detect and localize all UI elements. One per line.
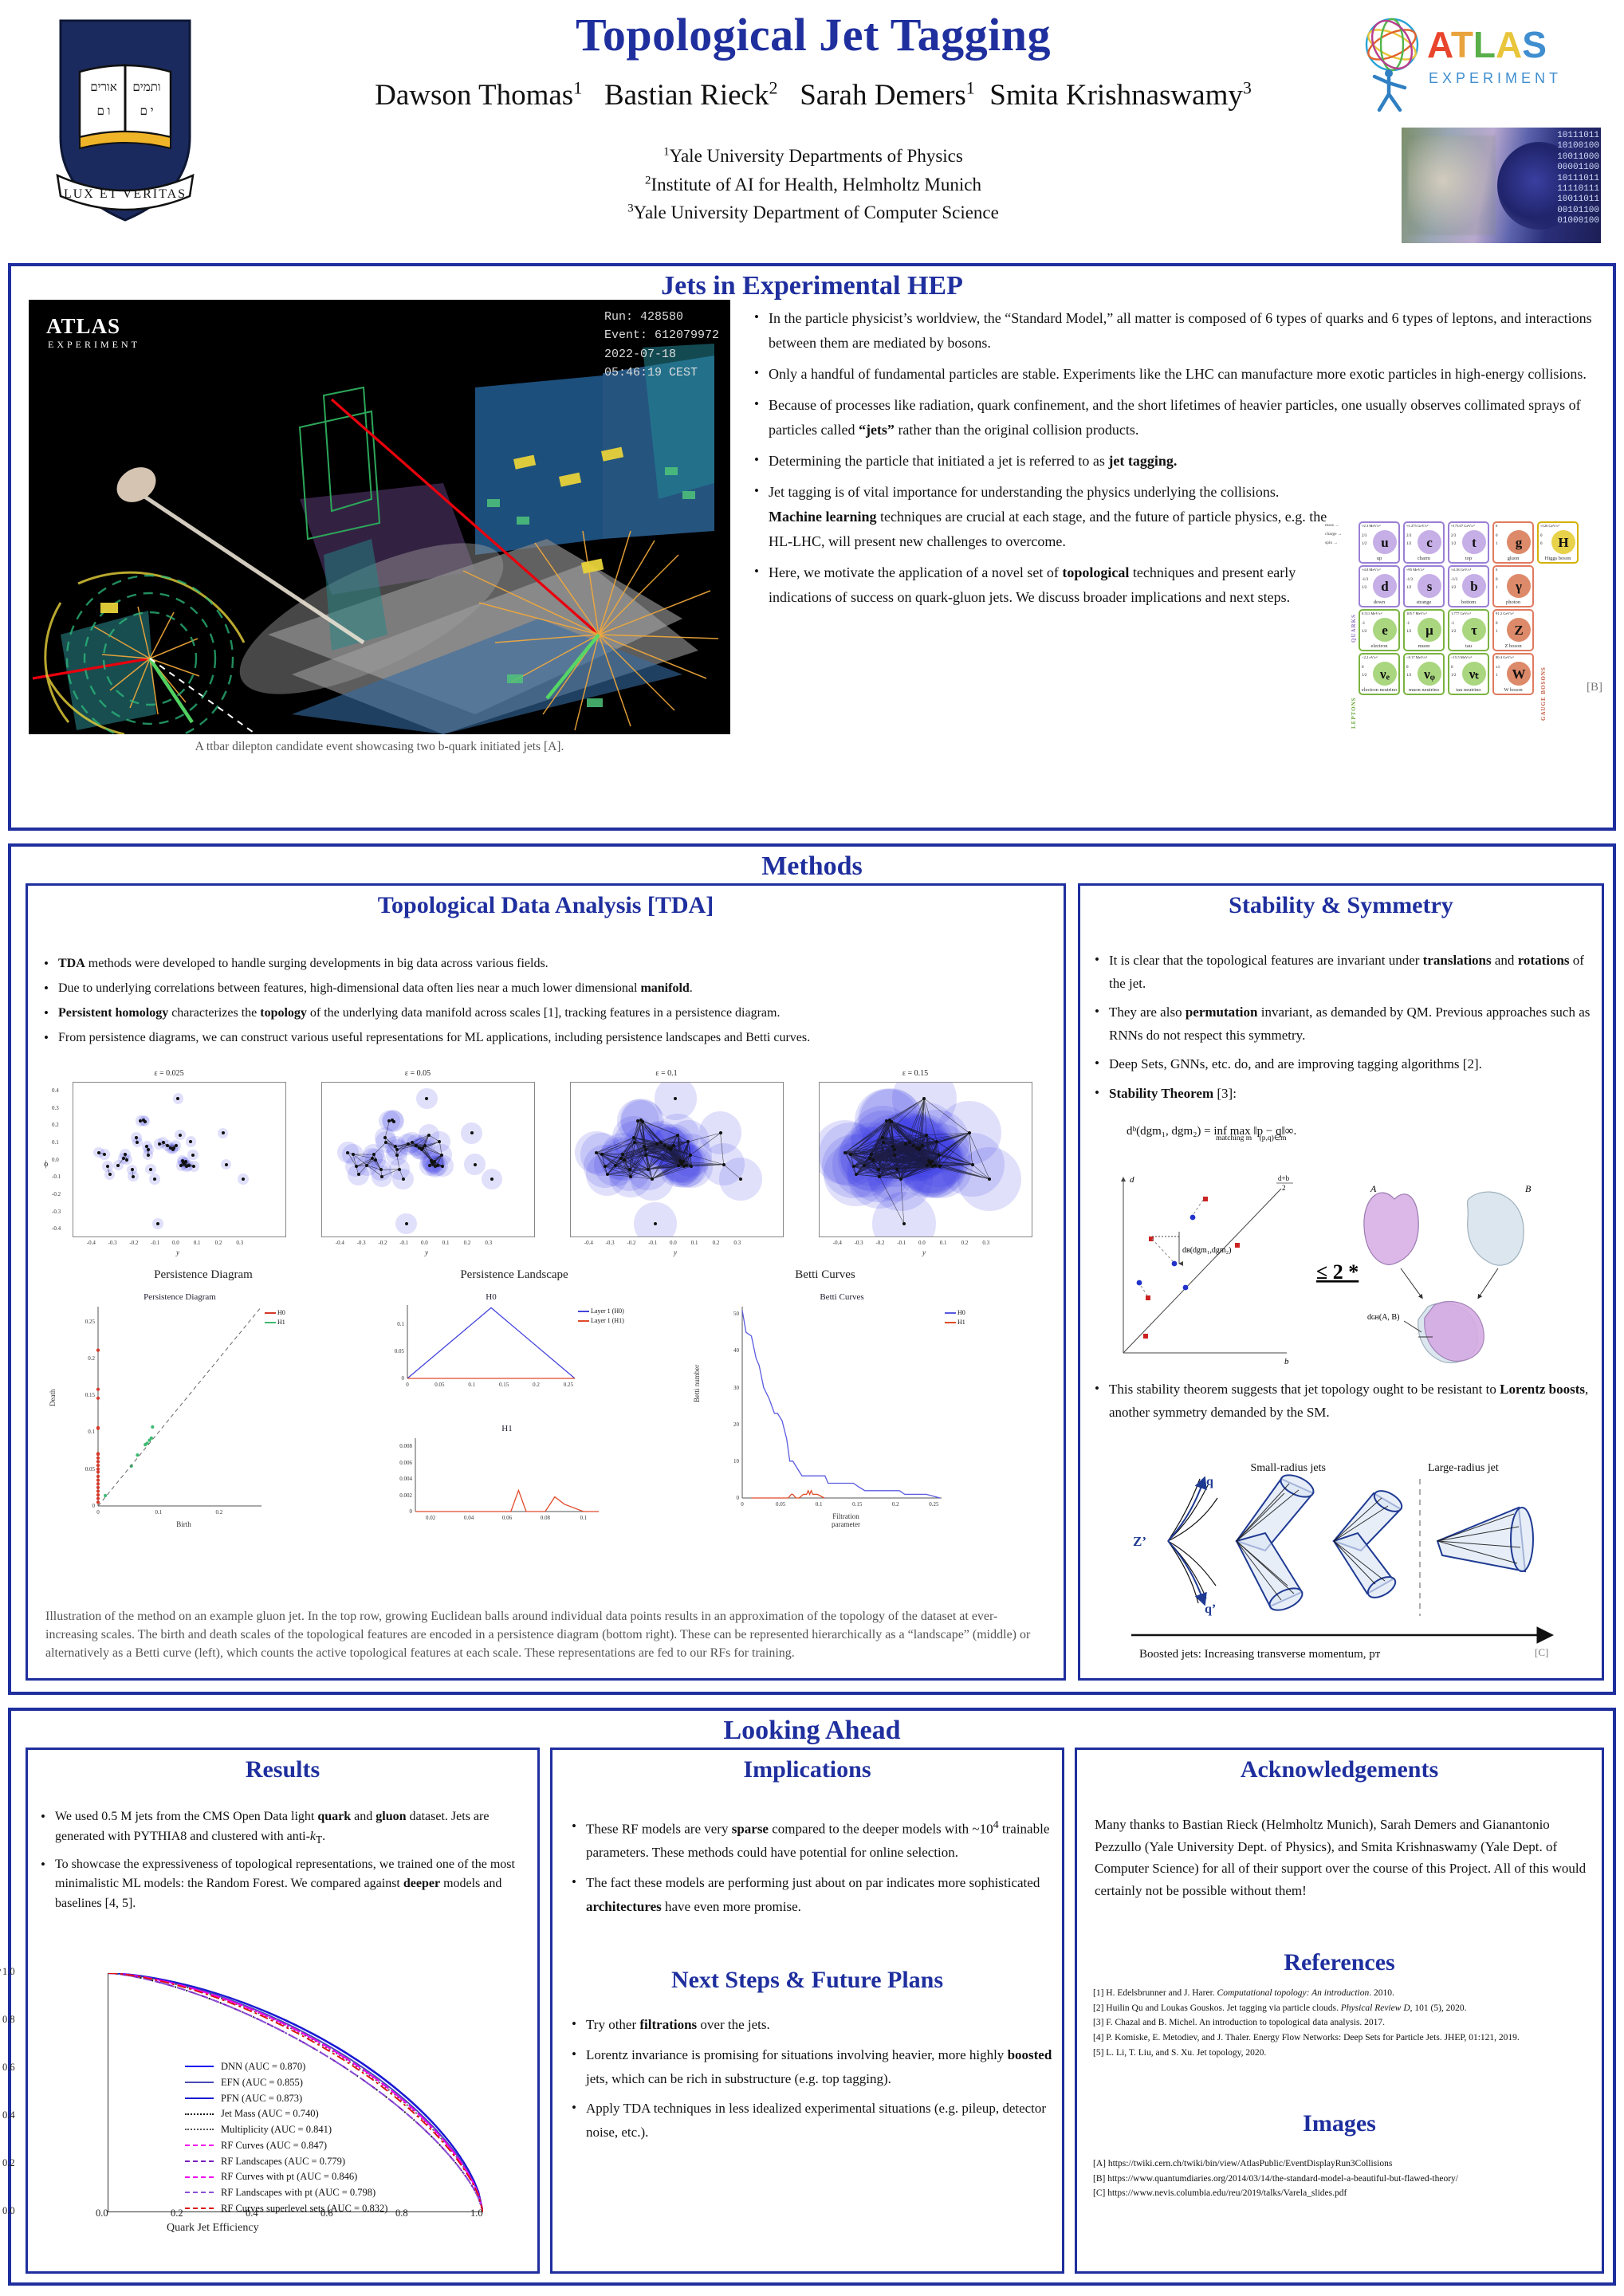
legend-item: H1 bbox=[945, 1318, 965, 1327]
y-tick: -0.4 bbox=[52, 1225, 61, 1232]
image-ref-b: [B] bbox=[1587, 681, 1602, 694]
y-tick: 30 bbox=[718, 1385, 739, 1391]
x-tick: -0.2 bbox=[875, 1240, 884, 1246]
y-tick: -0.2 bbox=[52, 1191, 61, 1197]
panel-title-implications: Implications bbox=[552, 1750, 1062, 1783]
list-item: Because of processes like radiation, qua… bbox=[753, 393, 1602, 442]
roc-x-axis-label: Quark Jet Efficiency bbox=[167, 2222, 259, 2235]
standard-model-particle-table: ≈2.3 MeV/c²2/31/2uup≈1.275 GeV/c²2/31/2c… bbox=[1359, 521, 1598, 705]
particle-cell-W-boson: 80.4 GeV/c²±11WW boson bbox=[1492, 653, 1534, 695]
roc-legend: DNN (AUC = 0.870) EFN (AUC = 0.855) PFN … bbox=[185, 2059, 387, 2217]
bottleneck-distance-formula: dᵇ(dgm₁, dgm₂) = inf max ‖p − q‖∞. match… bbox=[1127, 1125, 1296, 1142]
filtration-panel-1: ε = 0.05-0.4-0.3-0.2-0.10.00.10.20.3y bbox=[301, 1069, 535, 1258]
legend-swatch bbox=[185, 2160, 214, 2162]
chart-legend: Layer 1 (H0) Layer 1 (H1) bbox=[578, 1307, 624, 1326]
x-tick: 0.04 bbox=[461, 1515, 477, 1521]
x-tick: 0.1 bbox=[940, 1240, 947, 1246]
tda-figure-caption: Illustration of the method on an example… bbox=[45, 1607, 1050, 1663]
list-item: To showcase the expressiveness of topolo… bbox=[39, 1855, 533, 1914]
affiliation-3: 3Yale University Department of Computer … bbox=[263, 199, 1363, 227]
y-tick: 0.25 bbox=[74, 1319, 95, 1325]
group-label-quarks: QUARKS bbox=[1351, 563, 1357, 643]
filtration-panel-2: ε = 0.1-0.4-0.3-0.2-0.10.00.10.20.3y bbox=[549, 1069, 784, 1258]
chart-title: H0 bbox=[407, 1292, 575, 1302]
y-tick: 0.1 bbox=[52, 1139, 59, 1146]
x-tick: -0.3 bbox=[855, 1240, 863, 1246]
diagonal-denominator: 2 bbox=[1282, 1184, 1286, 1192]
x-axis-label: y bbox=[674, 1248, 677, 1256]
svg-text:אורים: אורים bbox=[90, 81, 117, 94]
x-tick: 0.1 bbox=[194, 1240, 201, 1246]
particle-cell-Higgs-boson: ≈126 GeV/c²00HHiggs boson bbox=[1537, 521, 1579, 564]
list-item: Stability Theorem [3]: bbox=[1093, 1083, 1591, 1106]
filtration-panel-title: ε = 0.05 bbox=[301, 1069, 535, 1078]
legend-item: RF Landscapes (AUC = 0.779) bbox=[185, 2154, 387, 2169]
list-item: Jet tagging is of vital importance for u… bbox=[753, 480, 1335, 554]
panel-acknowledgements-references: Acknowledgements Many thanks to Bastian … bbox=[1075, 1748, 1604, 2274]
list-item: [1] H. Edelsbrunner and J. Harer. Comput… bbox=[1093, 1986, 1595, 2001]
list-item: Only a handful of fundamental particles … bbox=[753, 362, 1602, 387]
roc-x-tick: 1.0 bbox=[470, 2208, 483, 2219]
x-tick: 0.0 bbox=[918, 1240, 926, 1246]
y-tick: 0 bbox=[383, 1375, 404, 1382]
x-tick: 0.2 bbox=[713, 1240, 720, 1246]
particle-cell-charm: ≈1.275 GeV/c²2/31/2ccharm bbox=[1403, 521, 1445, 564]
x-tick: -0.1 bbox=[399, 1240, 408, 1246]
x-tick: 0 bbox=[734, 1501, 750, 1508]
x-tick: 0.15 bbox=[496, 1382, 512, 1388]
panel-topological-data-analysis: Topological Data Analysis [TDA] TDA meth… bbox=[26, 883, 1066, 1681]
roc-x-tick: 0.8 bbox=[395, 2208, 408, 2219]
filtration-plot-area bbox=[321, 1082, 535, 1237]
y-axis-label: ϕ bbox=[44, 1160, 48, 1169]
panel-title-results: Results bbox=[28, 1750, 537, 1783]
row-meta-0: mass → bbox=[1325, 523, 1339, 528]
roc-curve-chart: Gluon Jet Rejection DNN (AUC = 0.870) EF… bbox=[39, 1965, 533, 2268]
x-tick: 0.06 bbox=[499, 1515, 515, 1521]
list-item: Try other filtrations over the jets. bbox=[570, 2013, 1052, 2037]
y-tick: 0.006 bbox=[391, 1460, 412, 1466]
author-3: Sarah Demers1 bbox=[800, 79, 975, 112]
z-prime-label: Z’ bbox=[1133, 1534, 1146, 1549]
legend-item: PFN (AUC = 0.873) bbox=[185, 2091, 387, 2106]
x-axis-label: y bbox=[922, 1248, 926, 1256]
filtration-panel-title: ε = 0.025 bbox=[52, 1069, 286, 1078]
binary-digits: 1011101110100100100110000000110010111011… bbox=[1557, 131, 1599, 227]
list-item: TDA methods were developed to handle sur… bbox=[42, 954, 1055, 973]
formula-sub-pairs: (p,q)∈m bbox=[1260, 1134, 1287, 1142]
event-date: 2022-07-18 bbox=[604, 345, 719, 364]
x-tick: 0.25 bbox=[560, 1382, 576, 1388]
axis-label-b: b bbox=[1284, 1357, 1289, 1366]
quark-label-q: q bbox=[1206, 1475, 1213, 1488]
list-item: [3] F. Chazal and B. Michel. An introduc… bbox=[1093, 2015, 1595, 2031]
roc-x-tick: 0.2 bbox=[171, 2208, 183, 2219]
legend-swatch bbox=[185, 2066, 214, 2067]
list-item: [C] https://www.nevis.columbia.edu/reu/2… bbox=[1093, 2186, 1595, 2201]
stability-bullet-list: It is clear that the topological feature… bbox=[1093, 949, 1591, 1111]
image-ref-c: [C] bbox=[1535, 1646, 1548, 1658]
row-label-betti-curves: Betti Curves bbox=[706, 1268, 945, 1282]
author-4: Smita Krishnaswamy3 bbox=[989, 79, 1252, 112]
tda-bullet-list: TDA methods were developed to handle sur… bbox=[42, 954, 1055, 1053]
list-item: Persistent homology characterizes the to… bbox=[42, 1004, 1055, 1023]
legend-label: Jet Mass (AUC = 0.740) bbox=[221, 2106, 319, 2121]
small-radius-jets-label: Small-radius jets bbox=[1251, 1462, 1327, 1474]
particle-cell-top: ≈173.07 GeV/c²2/31/2ttop bbox=[1448, 521, 1489, 564]
x-tick: 0.3 bbox=[982, 1240, 989, 1246]
affiliation-2: 2Institute of AI for Health, Helmholtz M… bbox=[263, 171, 1363, 199]
legend-item: RF Curves superlevel sets (AUC = 0.832) bbox=[185, 2201, 387, 2216]
svg-text:י ם: י ם bbox=[140, 105, 153, 118]
filtration-panel-0: ε = 0.025-0.4-0.3-0.2-0.10.00.10.20.3y-0… bbox=[52, 1069, 286, 1258]
section-looking-ahead: Looking Ahead Results We used 0.5 M jets… bbox=[8, 1708, 1616, 2286]
panel-title-tda: Topological Data Analysis [TDA] bbox=[28, 886, 1064, 919]
roc-y-tick: 0.0 bbox=[2, 2205, 15, 2217]
chart-title: Persistence Diagram bbox=[98, 1292, 261, 1302]
event-id: Event: 612079972 bbox=[604, 326, 719, 344]
x-tick: 0.08 bbox=[537, 1515, 553, 1521]
particle-cell-muon-neutrino: <0.17 MeV/c²01/2νᵩmuon neutrino bbox=[1403, 653, 1445, 695]
inequality-bound: ≤ 2 * bbox=[1316, 1260, 1359, 1284]
legend-label: RF Landscapes with pt (AUC = 0.798) bbox=[221, 2185, 376, 2200]
particle-cell-bottom: ≈4.18 GeV/c²-1/31/2bbottom bbox=[1448, 565, 1489, 607]
legend-item: H0 bbox=[265, 1308, 285, 1318]
x-tick: 0.05 bbox=[431, 1382, 447, 1388]
x-axis-label: y bbox=[176, 1248, 179, 1256]
svg-text:ATLAS: ATLAS bbox=[1427, 24, 1547, 65]
x-tick: 0.02 bbox=[423, 1515, 438, 1521]
list-item: Apply TDA techniques in less idealized e… bbox=[570, 2097, 1052, 2145]
sub-title-next-steps: Next Steps & Future Plans bbox=[552, 1967, 1062, 1994]
legend-item: RF Curves (AUC = 0.847) bbox=[185, 2138, 387, 2153]
list-item: Deep Sets, GNNs, etc. do, and are improv… bbox=[1093, 1053, 1591, 1076]
y-tick: 0 bbox=[718, 1495, 739, 1501]
x-axis-label: y bbox=[425, 1248, 428, 1256]
roc-x-tick: 0.4 bbox=[246, 2208, 258, 2219]
event-metadata: Run: 428580 Event: 612079972 2022-07-18 … bbox=[604, 308, 719, 382]
chart-title: Betti Curves bbox=[742, 1292, 942, 1302]
x-tick: -0.2 bbox=[378, 1240, 387, 1246]
legend-label: RF Curves (AUC = 0.847) bbox=[221, 2138, 327, 2153]
x-tick: 0 bbox=[399, 1382, 415, 1388]
x-tick: -0.4 bbox=[336, 1240, 344, 1246]
axis-label-d: d bbox=[1130, 1175, 1134, 1185]
list-item: [4] P. Komiske, E. Metodiev, and J. Thal… bbox=[1093, 2031, 1595, 2046]
list-item: [2] Huilin Qu and Loukas Gouskos. Jet ta… bbox=[1093, 2001, 1595, 2016]
roc-plot-area: DNN (AUC = 0.870) EFN (AUC = 0.855) PFN … bbox=[108, 1973, 482, 2212]
legend-item: DNN (AUC = 0.870) bbox=[185, 2059, 387, 2074]
y-tick: 0.0 bbox=[52, 1157, 59, 1163]
roc-y-tick: 0.2 bbox=[2, 2157, 15, 2169]
shape-label-b: B bbox=[1525, 1183, 1532, 1194]
x-tick: 0.3 bbox=[236, 1240, 243, 1246]
chart-title: H1 bbox=[415, 1424, 599, 1433]
particle-cell-Z-boson: 91.2 GeV/c²01ZZ boson bbox=[1492, 609, 1534, 651]
particle-cell-muon: 105.7 MeV/c²-11/2μmuon bbox=[1403, 609, 1445, 651]
y-tick: 0.1 bbox=[74, 1429, 95, 1435]
x-tick: -0.1 bbox=[151, 1240, 159, 1246]
panel-stability-and-symmetry: Stability & Symmetry It is clear that th… bbox=[1078, 883, 1604, 1681]
reference-list: [1] H. Edelsbrunner and J. Harer. Comput… bbox=[1093, 1986, 1595, 2060]
list-item: Here, we motivate the application of a n… bbox=[753, 560, 1359, 610]
y-tick: 0.004 bbox=[391, 1476, 412, 1482]
legend-item: Layer 1 (H1) bbox=[578, 1316, 624, 1326]
x-tick: -0.3 bbox=[357, 1240, 366, 1246]
particle-cell-down: ≈4.8 MeV/c²-1/31/2ddown bbox=[1359, 565, 1400, 607]
shape-label-a: A bbox=[1370, 1183, 1377, 1194]
x-tick: 0.2 bbox=[887, 1501, 903, 1508]
y-tick: 0.15 bbox=[74, 1392, 95, 1398]
event-run: Run: 428580 bbox=[604, 308, 719, 326]
legend-swatch bbox=[185, 2176, 214, 2178]
x-tick: 0.1 bbox=[442, 1240, 450, 1246]
yale-shield-logo: אורים ותמים ו ם י ם LUX ET VERITAS bbox=[49, 18, 201, 225]
particle-cell-tau: 1.777 GeV/c²-11/2τtau bbox=[1448, 609, 1489, 651]
y-tick: -0.3 bbox=[52, 1209, 61, 1215]
particle-cell-electron: 0.511 MeV/c²-11/2eelectron bbox=[1359, 609, 1400, 651]
section-title-methods: Methods bbox=[11, 847, 1613, 885]
ai-brain-decorative-image: 1011101110100100100110000000110010111011… bbox=[1402, 128, 1601, 243]
row-meta-1: charge → bbox=[1325, 532, 1342, 537]
x-tick: 0.2 bbox=[211, 1509, 227, 1516]
boost-axis-caption: Boosted jets: Increasing transverse mome… bbox=[1139, 1648, 1381, 1661]
group-label-leptons: LEPTONS bbox=[1351, 649, 1357, 729]
y-tick: 0 bbox=[74, 1503, 95, 1509]
y-tick: 0.4 bbox=[52, 1087, 59, 1094]
y-tick: 0.3 bbox=[52, 1105, 59, 1111]
chart-legend: H0 H1 bbox=[945, 1308, 965, 1327]
legend-swatch bbox=[185, 2192, 214, 2193]
y-tick: 0.2 bbox=[52, 1122, 59, 1128]
x-tick: 0.3 bbox=[733, 1240, 741, 1246]
section-methods: Methods Topological Data Analysis [TDA] … bbox=[8, 843, 1616, 1695]
x-tick: -0.2 bbox=[129, 1240, 138, 1246]
chart-legend: H0 H1 bbox=[265, 1308, 285, 1327]
stability-theorem-diagram: d b d+b 2 bbox=[1099, 1163, 1587, 1370]
diagonal-label: d+b bbox=[1278, 1174, 1290, 1182]
stability-bullet-list-2: This stability theorem suggests that jet… bbox=[1093, 1378, 1591, 1430]
x-tick: -0.1 bbox=[648, 1240, 657, 1246]
chart-persistence-diagram: Persistence Diagram00.10.200.050.10.150.… bbox=[65, 1292, 344, 1579]
particle-cell-electron-neutrino: <2.2 eV/c²01/2νₑelectron neutrino bbox=[1359, 653, 1400, 695]
section-title-jets: Jets in Experimental HEP bbox=[11, 266, 1613, 305]
legend-label: RF Curves with pt (AUC = 0.846) bbox=[221, 2169, 357, 2184]
formula-sub-matching: matching m bbox=[1216, 1134, 1252, 1142]
svg-text:ו ם: ו ם bbox=[97, 105, 111, 118]
x-tick: 0.1 bbox=[151, 1509, 167, 1516]
section-jets-in-experimental-hep: Jets in Experimental HEP bbox=[8, 263, 1616, 831]
large-radius-jet-label: Large-radius jet bbox=[1428, 1462, 1499, 1474]
x-tick: 0.1 bbox=[576, 1515, 592, 1521]
y-tick: 0.002 bbox=[391, 1492, 412, 1499]
atlas-event-display-image: ATLAS EXPERIMENT Run: 428580 Event: 6120… bbox=[29, 300, 730, 734]
affiliation-1: 1Yale University Departments of Physics bbox=[263, 142, 1363, 171]
image-source-list: [A] https://twiki.cern.ch/twiki/bin/view… bbox=[1093, 2156, 1595, 2201]
yale-motto: LUX ET VERITAS bbox=[64, 187, 187, 201]
affiliation-list: 1Yale University Departments of Physics … bbox=[263, 142, 1363, 227]
y-tick: 0.05 bbox=[74, 1466, 95, 1472]
y-tick: 20 bbox=[718, 1421, 739, 1428]
x-tick: -0.4 bbox=[87, 1240, 96, 1246]
x-tick: 0.25 bbox=[926, 1501, 942, 1508]
atlas-experiment-logo: ATLAS EXPERIMENT bbox=[1355, 11, 1595, 123]
legend-item: H0 bbox=[945, 1308, 965, 1318]
list-item: [B] https://www.quantumdiaries.org/2014/… bbox=[1093, 2172, 1595, 2187]
roc-y-tick: 0.4 bbox=[2, 2109, 15, 2121]
y-tick: 0 bbox=[391, 1508, 412, 1515]
x-tick: 0.1 bbox=[811, 1501, 827, 1508]
chart-betti-curves: Betti Curves00.050.10.150.20.25010203040… bbox=[706, 1292, 1040, 1579]
particle-cell-photon: 001γphoton bbox=[1492, 565, 1534, 607]
legend-item: H1 bbox=[265, 1318, 285, 1327]
legend-label: RF Landscapes (AUC = 0.779) bbox=[221, 2154, 345, 2169]
list-item: [5] L. Li, T. Liu, and S. Xu. Jet topolo… bbox=[1093, 2046, 1595, 2061]
filtration-panel-title: ε = 0.15 bbox=[798, 1069, 1032, 1078]
quark-label-q-prime: q’ bbox=[1205, 1602, 1216, 1616]
list-item: [A] https://twiki.cern.ch/twiki/bin/view… bbox=[1093, 2156, 1595, 2172]
x-tick: 0.2 bbox=[215, 1240, 222, 1246]
list-item: This stability theorem suggests that jet… bbox=[1093, 1378, 1591, 1424]
legend-item: EFN (AUC = 0.855) bbox=[185, 2075, 387, 2090]
event-time: 05:46:19 CEST bbox=[604, 364, 719, 382]
author-2: Bastian Rieck2 bbox=[604, 79, 778, 112]
roc-y-tick: 1.0 bbox=[2, 1966, 15, 1978]
atlas-watermark: ATLAS EXPERIMENT bbox=[46, 314, 140, 351]
list-item: The fact these models are performing jus… bbox=[570, 1871, 1052, 1919]
y-tick: 10 bbox=[718, 1458, 739, 1464]
list-item: They are also permutation invariant, as … bbox=[1093, 1001, 1591, 1047]
filtration-panel-3: ε = 0.15-0.4-0.3-0.2-0.10.00.10.20.3y bbox=[798, 1069, 1032, 1258]
panel-implications-and-next-steps: Implications These RF models are very sp… bbox=[550, 1748, 1064, 2274]
particle-cell-gluon: 001ggluon bbox=[1492, 521, 1534, 564]
legend-swatch bbox=[185, 2082, 214, 2083]
x-tick: -0.2 bbox=[627, 1240, 635, 1246]
x-tick: 0.2 bbox=[464, 1240, 471, 1246]
x-tick: 0.1 bbox=[464, 1382, 480, 1388]
section-title-looking-ahead: Looking Ahead bbox=[11, 1711, 1613, 1749]
x-tick: -0.3 bbox=[108, 1240, 117, 1246]
legend-item: Layer 1 (H0) bbox=[578, 1307, 624, 1316]
page-title: Topological Jet Tagging bbox=[263, 8, 1363, 61]
legend-item: RF Landscapes with pt (AUC = 0.798) bbox=[185, 2185, 387, 2200]
legend-item: RF Curves with pt (AUC = 0.846) bbox=[185, 2169, 387, 2184]
boosted-jets-figure: Z’ q q’ bbox=[1104, 1444, 1583, 1665]
x-axis-label: Birth bbox=[156, 1520, 212, 1528]
x-tick: 0.15 bbox=[849, 1501, 865, 1508]
x-tick: 0.1 bbox=[691, 1240, 698, 1246]
y-tick: 50 bbox=[718, 1311, 739, 1317]
list-item: In the particle physicist’s worldview, t… bbox=[753, 306, 1602, 356]
face-overlay bbox=[1408, 136, 1496, 235]
filtration-panel-row: ε = 0.025-0.4-0.3-0.2-0.10.00.10.20.3y-0… bbox=[52, 1069, 1048, 1260]
implications-bullet-list: These RF models are very sparse compared… bbox=[570, 1815, 1052, 1925]
filtration-plot-area bbox=[73, 1082, 286, 1237]
panel-results: Results We used 0.5 M jets from the CMS … bbox=[26, 1748, 540, 2274]
y-axis-label: Betti number bbox=[693, 1365, 701, 1402]
list-item: From persistence diagrams, we can constr… bbox=[42, 1028, 1055, 1048]
panel-title-acknowledgements: Acknowledgements bbox=[1077, 1750, 1602, 1783]
x-tick: -0.4 bbox=[584, 1240, 593, 1246]
legend-swatch bbox=[185, 2145, 214, 2146]
y-tick: 0.008 bbox=[391, 1443, 412, 1449]
sub-title-references: References bbox=[1077, 1949, 1602, 1976]
legend-label: Multiplicity (AUC = 0.841) bbox=[221, 2122, 332, 2137]
author-list: Dawson Thomas1 Bastian Rieck2 Sarah Deme… bbox=[263, 78, 1363, 112]
x-tick: -0.1 bbox=[897, 1240, 906, 1246]
list-item: It is clear that the topological feature… bbox=[1093, 949, 1591, 995]
particle-cell-tau-neutrino: <15.5 MeV/c²01/2νₜtau neutrino bbox=[1448, 653, 1489, 695]
list-item: Lorentz invariance is promising for situ… bbox=[570, 2043, 1052, 2091]
next-steps-bullet-list: Try other filtrations over the jets. Lor… bbox=[570, 2013, 1052, 2151]
legend-swatch bbox=[185, 2208, 214, 2209]
legend-item: Multiplicity (AUC = 0.841) bbox=[185, 2122, 387, 2137]
legend-label: PFN (AUC = 0.873) bbox=[221, 2091, 302, 2106]
results-bullet-list: We used 0.5 M jets from the CMS Open Dat… bbox=[39, 1807, 533, 1921]
x-tick: 0.2 bbox=[529, 1382, 545, 1388]
x-tick: 0 bbox=[90, 1509, 106, 1516]
poster-header: אורים ותמים ו ם י ם LUX ET VERITAS Topol… bbox=[0, 0, 1624, 255]
filtration-panel-title: ε = 0.1 bbox=[549, 1069, 784, 1078]
row-label-persistence-landscape: Persistence Landscape bbox=[379, 1268, 650, 1282]
gromov-hausdorff-label: dɢʜ(A, B) bbox=[1367, 1313, 1399, 1322]
atlas-watermark-name: ATLAS bbox=[46, 314, 140, 339]
x-tick: 0.05 bbox=[773, 1501, 788, 1508]
particle-cell-up: ≈2.3 MeV/c²2/31/2uup bbox=[1359, 521, 1400, 564]
author-1: Dawson Thomas1 bbox=[375, 79, 582, 112]
x-tick: -0.3 bbox=[606, 1240, 615, 1246]
y-tick: 0.1 bbox=[383, 1321, 404, 1327]
x-tick: -0.4 bbox=[833, 1240, 842, 1246]
legend-label: EFN (AUC = 0.855) bbox=[221, 2075, 303, 2090]
group-label-gauge-bosons: GAUGE BOSONS bbox=[1540, 633, 1547, 721]
acknowledgements-text: Many thanks to Bastian Rieck (Helmholtz … bbox=[1095, 1814, 1589, 1901]
poster-root: אורים ותמים ו ם י ם LUX ET VERITAS Topol… bbox=[0, 0, 1624, 2296]
roc-x-tick: 0.0 bbox=[96, 2208, 108, 2219]
roc-y-tick: 0.8 bbox=[2, 2014, 15, 2026]
x-axis-label: Filtration parameter bbox=[818, 1512, 874, 1528]
roc-y-tick: 0.6 bbox=[2, 2062, 15, 2074]
legend-item: Jet Mass (AUC = 0.740) bbox=[185, 2106, 387, 2121]
sub-title-images: Images bbox=[1077, 2110, 1602, 2137]
legend-label: DNN (AUC = 0.870) bbox=[221, 2059, 305, 2074]
list-item: Determining the particle that initiated … bbox=[753, 449, 1602, 474]
legend-swatch bbox=[185, 2113, 214, 2115]
y-axis-label: Death bbox=[49, 1390, 57, 1407]
particle-cell-strange: ≈95 MeV/c²-1/31/2sstrange bbox=[1403, 565, 1445, 607]
bottleneck-distance-label: dʙ(dgm₁,dgm₂) bbox=[1182, 1246, 1231, 1255]
x-tick: 0.0 bbox=[421, 1240, 428, 1246]
event-display-caption: A ttbar dilepton candidate event showcas… bbox=[29, 740, 730, 754]
atlas-experiment-subtitle: EXPERIMENT bbox=[1429, 70, 1562, 86]
x-tick: 0.0 bbox=[172, 1240, 179, 1246]
y-tick: 0.05 bbox=[383, 1348, 404, 1354]
list-item: These RF models are very sparse compared… bbox=[570, 1815, 1052, 1865]
x-tick: 0.3 bbox=[485, 1240, 492, 1246]
x-tick: 0.2 bbox=[961, 1240, 969, 1246]
chart-persistence-landscape: H000.050.10.150.20.2500.050.1 Layer 1 (H… bbox=[371, 1292, 690, 1579]
panel-title-stability: Stability & Symmetry bbox=[1080, 886, 1602, 919]
y-tick: -0.1 bbox=[52, 1174, 61, 1180]
legend-swatch bbox=[185, 2097, 214, 2099]
y-tick: 40 bbox=[718, 1347, 739, 1354]
row-label-persistence-diagram: Persistence Diagram bbox=[84, 1268, 323, 1282]
svg-text:ותמים: ותמים bbox=[132, 81, 160, 94]
roc-x-tick: 0.6 bbox=[320, 2208, 333, 2219]
list-item: We used 0.5 M jets from the CMS Open Dat… bbox=[39, 1807, 533, 1849]
filtration-plot-area bbox=[819, 1082, 1032, 1237]
list-item: Due to underlying correlations between f… bbox=[42, 979, 1055, 998]
